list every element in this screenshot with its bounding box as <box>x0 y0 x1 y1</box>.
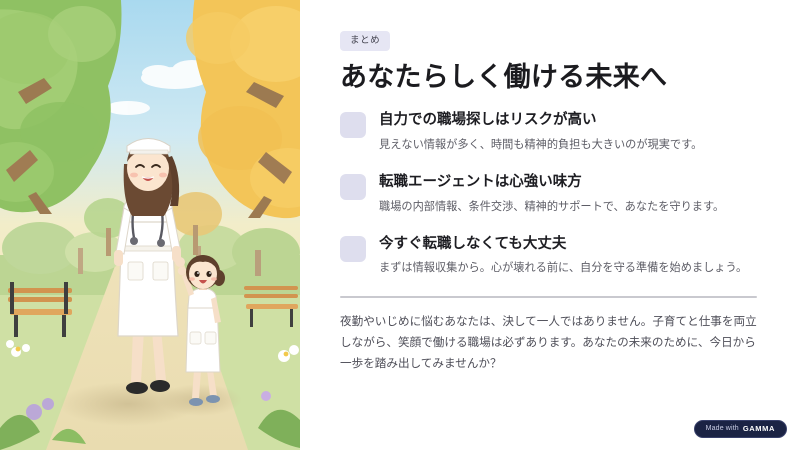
list-item-title: 転職エージェントは心強い味方 <box>379 173 757 193</box>
list-item-body: 自力での職場探しはリスクが高い 見えない情報が多く、時間も精神的負担も大きいのが… <box>379 111 757 154</box>
list-item-description: 職場の内部情報、条件交渉、精神的サポートで、あなたを守ります。 <box>379 198 757 216</box>
list-item: 転職エージェントは心強い味方 職場の内部情報、条件交渉、精神的サポートで、あなた… <box>340 173 757 216</box>
section-divider <box>340 296 757 298</box>
square-bullet-icon <box>340 112 366 138</box>
made-with-label: Made with <box>706 425 739 432</box>
list-item-body: 転職エージェントは心強い味方 職場の内部情報、条件交渉、精神的サポートで、あなた… <box>379 173 757 216</box>
made-with-gamma-badge[interactable]: Made with GAMMA <box>694 420 787 439</box>
list-item-description: まずは情報収集から。心が壊れる前に、自分を守る準備を始めましょう。 <box>379 259 757 277</box>
held-hands <box>175 257 185 267</box>
park-nurse-illustration <box>0 0 300 450</box>
slide-root: まとめ あなたらしく働ける未来へ 自力での職場探しはリスクが高い 見えない情報が… <box>0 0 800 450</box>
square-bullet-icon <box>340 174 366 200</box>
square-bullet-icon <box>340 236 366 262</box>
list-item: 自力での職場探しはリスクが高い 見えない情報が多く、時間も精神的負担も大きいのが… <box>340 111 757 154</box>
list-item-description: 見えない情報が多く、時間も精神的負担も大きいのが現実です。 <box>379 136 757 154</box>
list-item-title: 自力での職場探しはリスクが高い <box>379 111 757 131</box>
section-badge: まとめ <box>340 31 390 51</box>
page-title: あなたらしく働ける未来へ <box>340 62 757 94</box>
list-item: 今すぐ転職しなくても大丈夫 まずは情報収集から。心が壊れる前に、自分を守る準備を… <box>340 235 757 278</box>
content-pane: まとめ あなたらしく働ける未来へ 自力での職場探しはリスクが高い 見えない情報が… <box>300 0 800 450</box>
summary-list: 自力での職場探しはリスクが高い 見えない情報が多く、時間も精神的負担も大きいのが… <box>340 111 757 277</box>
list-item-body: 今すぐ転職しなくても大丈夫 まずは情報収集から。心が壊れる前に、自分を守る準備を… <box>379 235 757 278</box>
illustration-pane <box>0 0 300 450</box>
list-item-title: 今すぐ転職しなくても大丈夫 <box>379 235 757 255</box>
closing-paragraph: 夜勤やいじめに悩むあなたは、決して一人ではありません。子育てと仕事を両立しながら… <box>340 312 757 374</box>
gamma-brand-label: GAMMA <box>743 425 775 433</box>
